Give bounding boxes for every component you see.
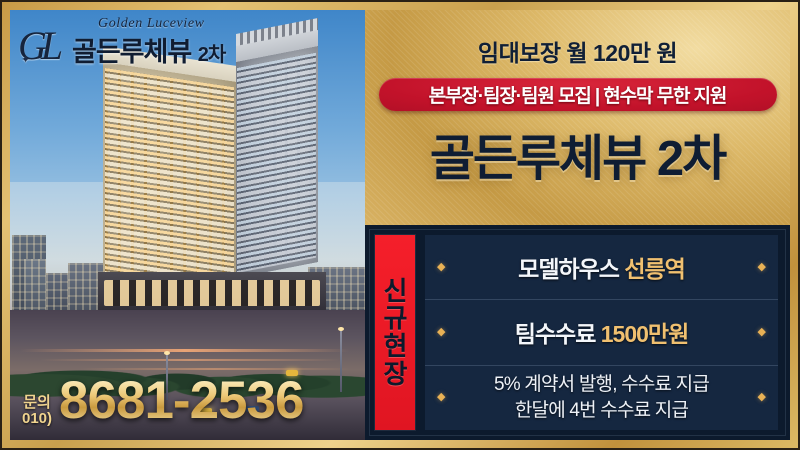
row-highlight-text: 1500만원 [601, 321, 689, 347]
project-title: 골든루체뷰 2차 [365, 119, 790, 190]
diamond-bullet-icon: ◆ [758, 327, 766, 338]
info-rows: ◆ 모델하우스 선릉역 ◆ ◆ 팀수수료 1500만원 ◆ ◆ [425, 235, 778, 430]
street-lamp [340, 330, 342, 392]
diamond-bullet-icon: ◆ [437, 392, 445, 403]
info-row-body: 모델하우스 선릉역 [445, 250, 757, 284]
row-plain-text: 팀수수료 [515, 321, 601, 347]
advertisement-banner: GL✦ Golden Luceview 골든루체뷰 2차 문의 010) 868… [0, 0, 800, 450]
info-row-body: 5% 계약서 발행, 수수료 지급 한달에 4번 수수료 지급 [445, 372, 757, 424]
info-row-body: 팀수수료 1500만원 [445, 315, 757, 349]
payment-terms-line-1: 5% 계약서 발행, 수수료 지급 [445, 372, 757, 398]
new-site-badge: 신 규 현 장 [375, 235, 415, 430]
info-row-modelhouse: ◆ 모델하우스 선릉역 ◆ [425, 235, 778, 299]
diamond-bullet-icon: ◆ [437, 327, 445, 338]
recruitment-pill-banner: 본부장·팀장·팀원 모집 | 현수막 무한 지원 [379, 78, 777, 111]
info-row-payment-terms: ◆ 5% 계약서 발행, 수수료 지급 한달에 4번 수수료 지급 ◆ [425, 365, 778, 430]
phone-label-prefix: 010) [22, 411, 52, 426]
brand-logo: GL✦ Golden Luceview 골든루체뷰 2차 [18, 16, 225, 69]
diamond-bullet-icon: ◆ [437, 262, 445, 273]
sparkle-icon: ✦ [21, 55, 32, 66]
badge-char-4: 장 [384, 361, 407, 388]
logo-text-group: Golden Luceview 골든루체뷰 2차 [72, 16, 225, 69]
logo-korean-name: 골든루체뷰 2차 [72, 30, 225, 69]
badge-char-2: 규 [384, 305, 407, 332]
tower-podium [98, 272, 326, 314]
logo-monogram: GL✦ [18, 23, 68, 69]
diamond-bullet-icon: ◆ [758, 262, 766, 273]
logo-korean-main: 골든루체뷰 [72, 37, 191, 67]
diamond-bullet-icon: ◆ [758, 392, 766, 403]
payment-terms-line-2: 한달에 4번 수수료 지급 [445, 398, 757, 424]
phone-number[interactable]: 8681-2536 [59, 377, 303, 426]
phone-label: 문의 010) [22, 395, 52, 426]
row-text: 모델하우스 선릉역 [518, 256, 685, 282]
tower-windows-left [105, 68, 234, 292]
info-panel: 신 규 현 장 ◆ 모델하우스 선릉역 ◆ ◆ 팀수수료 1500만원 [365, 225, 790, 440]
badge-char-3: 현 [384, 333, 407, 360]
rent-guarantee-headline: 임대보장 월 120만 원 [365, 34, 790, 68]
info-row-commission: ◆ 팀수수료 1500만원 ◆ [425, 299, 778, 364]
logo-korean-suffix: 2차 [198, 44, 226, 66]
tower-windows-right [237, 53, 316, 273]
banner-content: GL✦ Golden Luceview 골든루체뷰 2차 문의 010) 868… [10, 10, 790, 440]
row-highlight-text: 선릉역 [624, 256, 684, 282]
row-plain-text: 모델하우스 [518, 256, 624, 282]
gold-headline-panel: 임대보장 월 120만 원 본부장·팀장·팀원 모집 | 현수막 무한 지원 골… [365, 10, 790, 225]
recruitment-pill-text: 본부장·팀장·팀원 모집 | 현수막 무한 지원 [429, 81, 727, 108]
building-rendering-photo: GL✦ Golden Luceview 골든루체뷰 2차 문의 010) 868… [10, 10, 365, 440]
phone-label-inquiry: 문의 [23, 395, 51, 410]
row-text: 팀수수료 1500만원 [515, 321, 689, 347]
contact-phone[interactable]: 문의 010) 8681-2536 [22, 377, 304, 426]
badge-char-1: 신 [384, 278, 407, 305]
